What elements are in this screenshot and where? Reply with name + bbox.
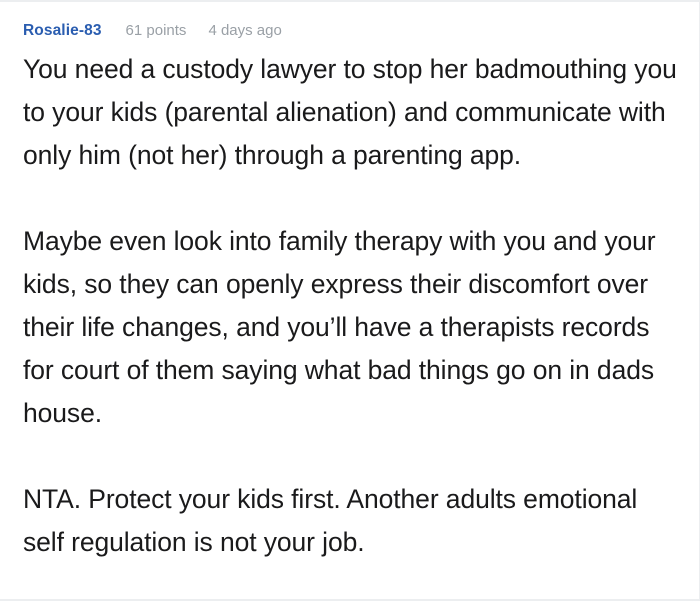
comment-card: Rosalie-83 61 points 4 days ago You need…	[0, 0, 700, 601]
comment-paragraph: You need a custody lawyer to stop her ba…	[23, 48, 681, 177]
comment-body: You need a custody lawyer to stop her ba…	[0, 48, 699, 564]
comment-header: Rosalie-83 61 points 4 days ago	[0, 2, 699, 40]
comment-author-link[interactable]: Rosalie-83	[23, 22, 102, 40]
comment-paragraph: NTA. Protect your kids first. Another ad…	[23, 478, 681, 564]
comment-paragraph: Maybe even look into family therapy with…	[23, 220, 681, 435]
comment-timestamp: 4 days ago	[208, 22, 281, 39]
comment-score: 61 points	[126, 22, 187, 39]
